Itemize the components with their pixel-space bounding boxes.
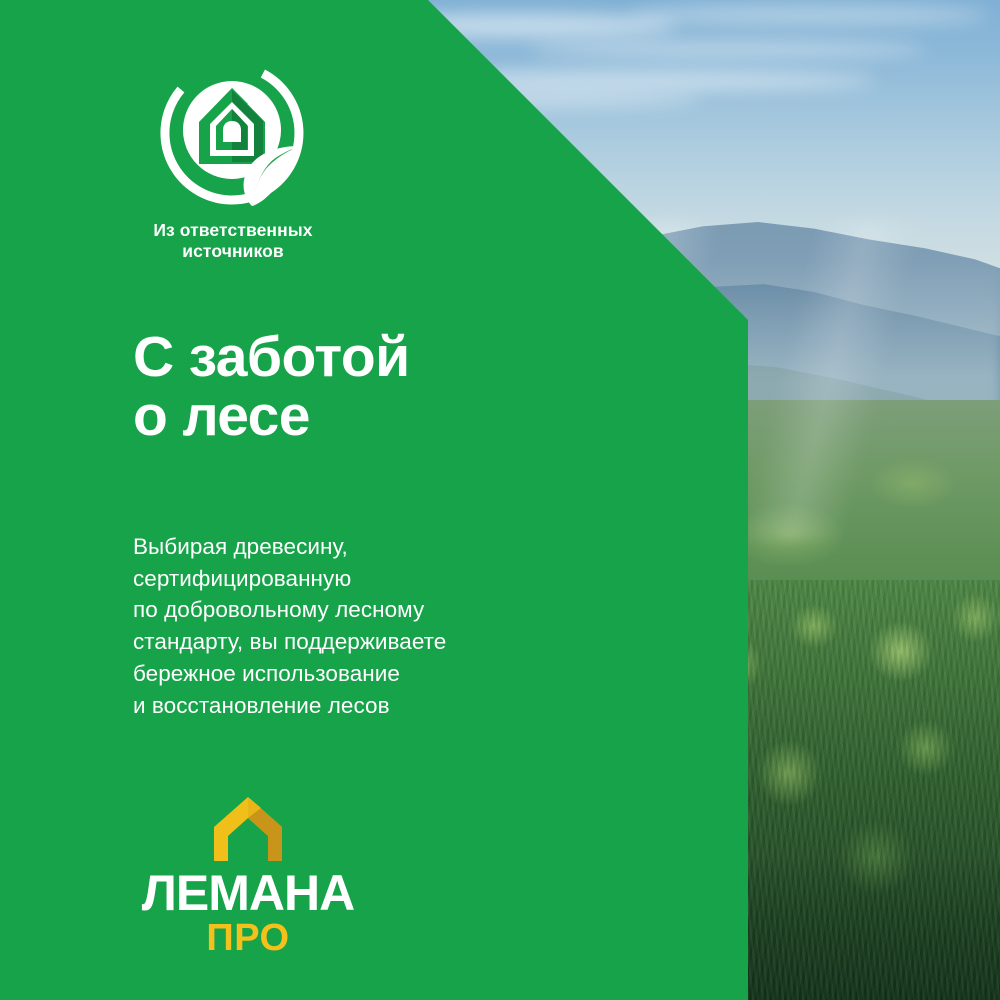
headline-line2: о лесе xyxy=(133,387,410,446)
certification-caption: Из ответственных источников xyxy=(133,220,333,263)
cloud-wisp xyxy=(628,5,988,25)
body-line-3: по добровольному лесному xyxy=(133,594,446,626)
body-line-1: Выбирая древесину, xyxy=(133,531,446,563)
brand-lockup: ЛЕМАНА ПРО xyxy=(133,796,363,957)
cloud-wisp xyxy=(529,41,926,58)
poster-canvas: Из ответственных источников С заботой о … xyxy=(0,0,1000,1000)
body-line-5: бережное использование xyxy=(133,658,446,690)
body-line-4: стандарту, вы поддерживаете xyxy=(133,626,446,658)
responsible-sources-seal-icon xyxy=(159,60,305,206)
certification-caption-line2: источников xyxy=(133,241,333,262)
brand-name: ЛЕМАНА xyxy=(142,868,354,918)
brand-sub: ПРО xyxy=(206,919,289,957)
certification-caption-line1: Из ответственных xyxy=(133,220,333,241)
house-roof-icon xyxy=(212,796,284,862)
certification-logo: Из ответственных источников xyxy=(133,60,453,263)
body-line-2: сертифицированную xyxy=(133,563,446,595)
headline: С заботой о лесе xyxy=(133,328,410,445)
body-copy: Выбирая древесину, сертифицированную по … xyxy=(133,531,446,721)
headline-line1: С заботой xyxy=(133,325,410,389)
body-line-6: и восстановление лесов xyxy=(133,690,446,722)
